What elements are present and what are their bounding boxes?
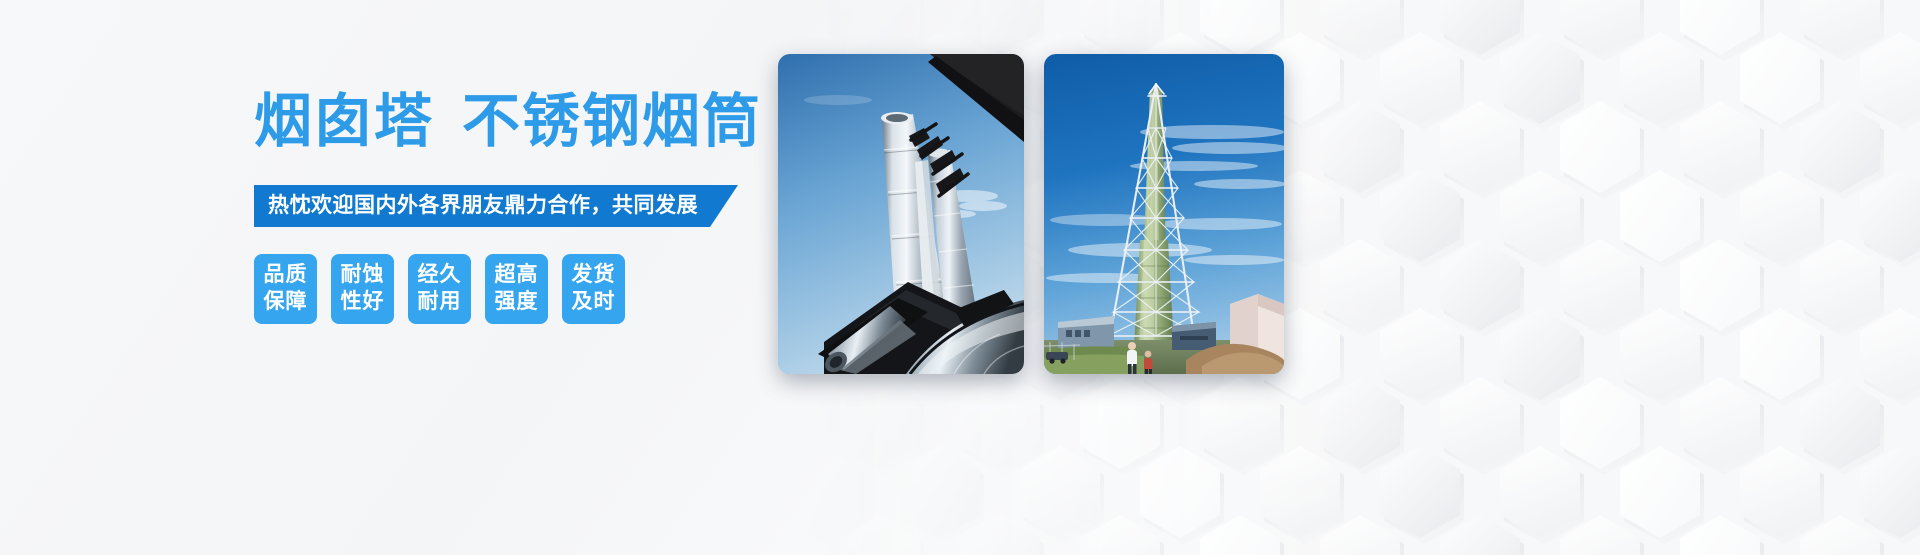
- badge-line-1: 耐蚀: [331, 261, 394, 288]
- feature-badge-fast-delivery[interactable]: 发货 及时: [562, 254, 625, 324]
- badge-line-1: 发货: [562, 261, 625, 288]
- badge-line-2: 强度: [485, 288, 548, 315]
- badge-line-1: 经久: [408, 261, 471, 288]
- badge-line-2: 保障: [254, 288, 317, 315]
- feature-badge-high-strength[interactable]: 超高 强度: [485, 254, 548, 324]
- feature-badge-quality[interactable]: 品质 保障: [254, 254, 317, 324]
- badge-line-1: 超高: [485, 261, 548, 288]
- promo-banner: 烟囱塔不锈钢烟筒 热忱欢迎国内外各界朋友鼎力合作，共同发展 品质 保障 耐蚀 性…: [0, 0, 1920, 555]
- page-title: 烟囱塔不锈钢烟筒: [254, 88, 762, 156]
- feature-badge-list: 品质 保障 耐蚀 性好 经久 耐用 超高 强度 发货 及时: [254, 254, 625, 324]
- badge-line-2: 及时: [562, 288, 625, 315]
- product-photo-chimney-tower[interactable]: [1044, 54, 1284, 374]
- feature-badge-durability[interactable]: 经久 耐用: [408, 254, 471, 324]
- badge-line-1: 品质: [254, 261, 317, 288]
- title-part-1: 烟囱塔: [254, 89, 434, 154]
- badge-line-2: 性好: [331, 288, 394, 315]
- product-photo-stainless-chimney[interactable]: [778, 54, 1024, 374]
- title-part-2: 不锈钢烟筒: [462, 89, 762, 154]
- slogan-ribbon: 热忱欢迎国内外各界朋友鼎力合作，共同发展: [254, 185, 738, 227]
- badge-line-2: 耐用: [408, 288, 471, 315]
- feature-badge-corrosion-resistance[interactable]: 耐蚀 性好: [331, 254, 394, 324]
